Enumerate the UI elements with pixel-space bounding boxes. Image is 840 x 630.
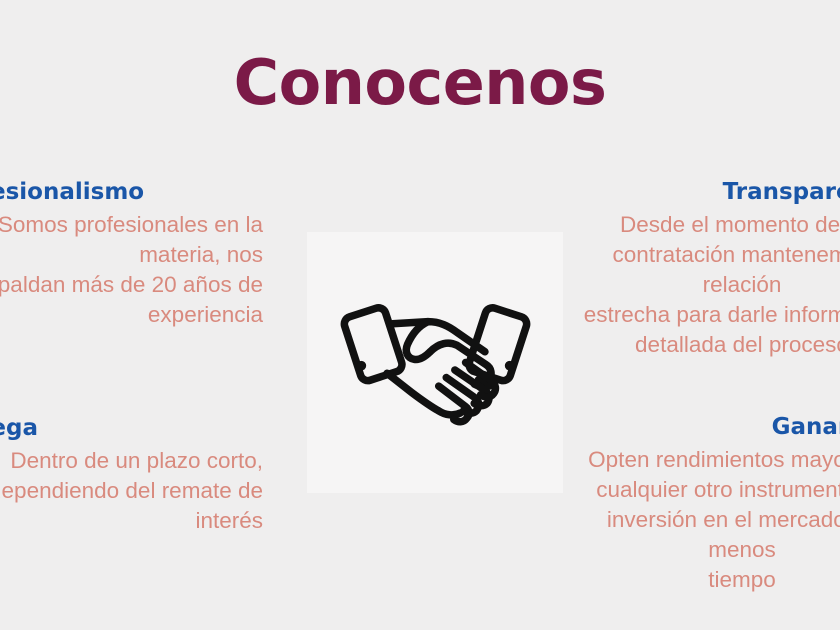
feature-heading-profesionalismo: Profesionalismo [0,180,263,206]
center-icon-card [307,232,563,493]
handshake-icon [328,255,543,470]
feature-heading-ganancias: Ganancias [577,415,840,441]
feature-body-ganancias: Opten rendimientos mayores a cualquier o… [577,445,840,596]
feature-heading-transparencia: Transparencia [577,180,840,206]
presentation-slide: Conocenos Profesionalismo Somos profesio… [0,0,840,630]
feature-body-entrega: Dentro de un plazo corto, dependiendo de… [0,446,263,536]
feature-block-ganancias: Ganancias Opten rendimientos mayores a c… [577,415,840,595]
feature-body-transparencia: Desde el momento de la contratación mant… [577,210,840,361]
page-title: Conocenos [0,52,840,114]
feature-heading-entrega: Entrega [0,416,263,442]
feature-body-profesionalismo: Somos profesionales en la materia, nos r… [0,210,263,331]
feature-block-transparencia: Transparencia Desde el momento de la con… [577,180,840,360]
feature-block-entrega: Entrega Dentro de un plazo corto, depend… [0,416,263,536]
feature-block-profesionalismo: Profesionalismo Somos profesionales en l… [0,180,263,330]
